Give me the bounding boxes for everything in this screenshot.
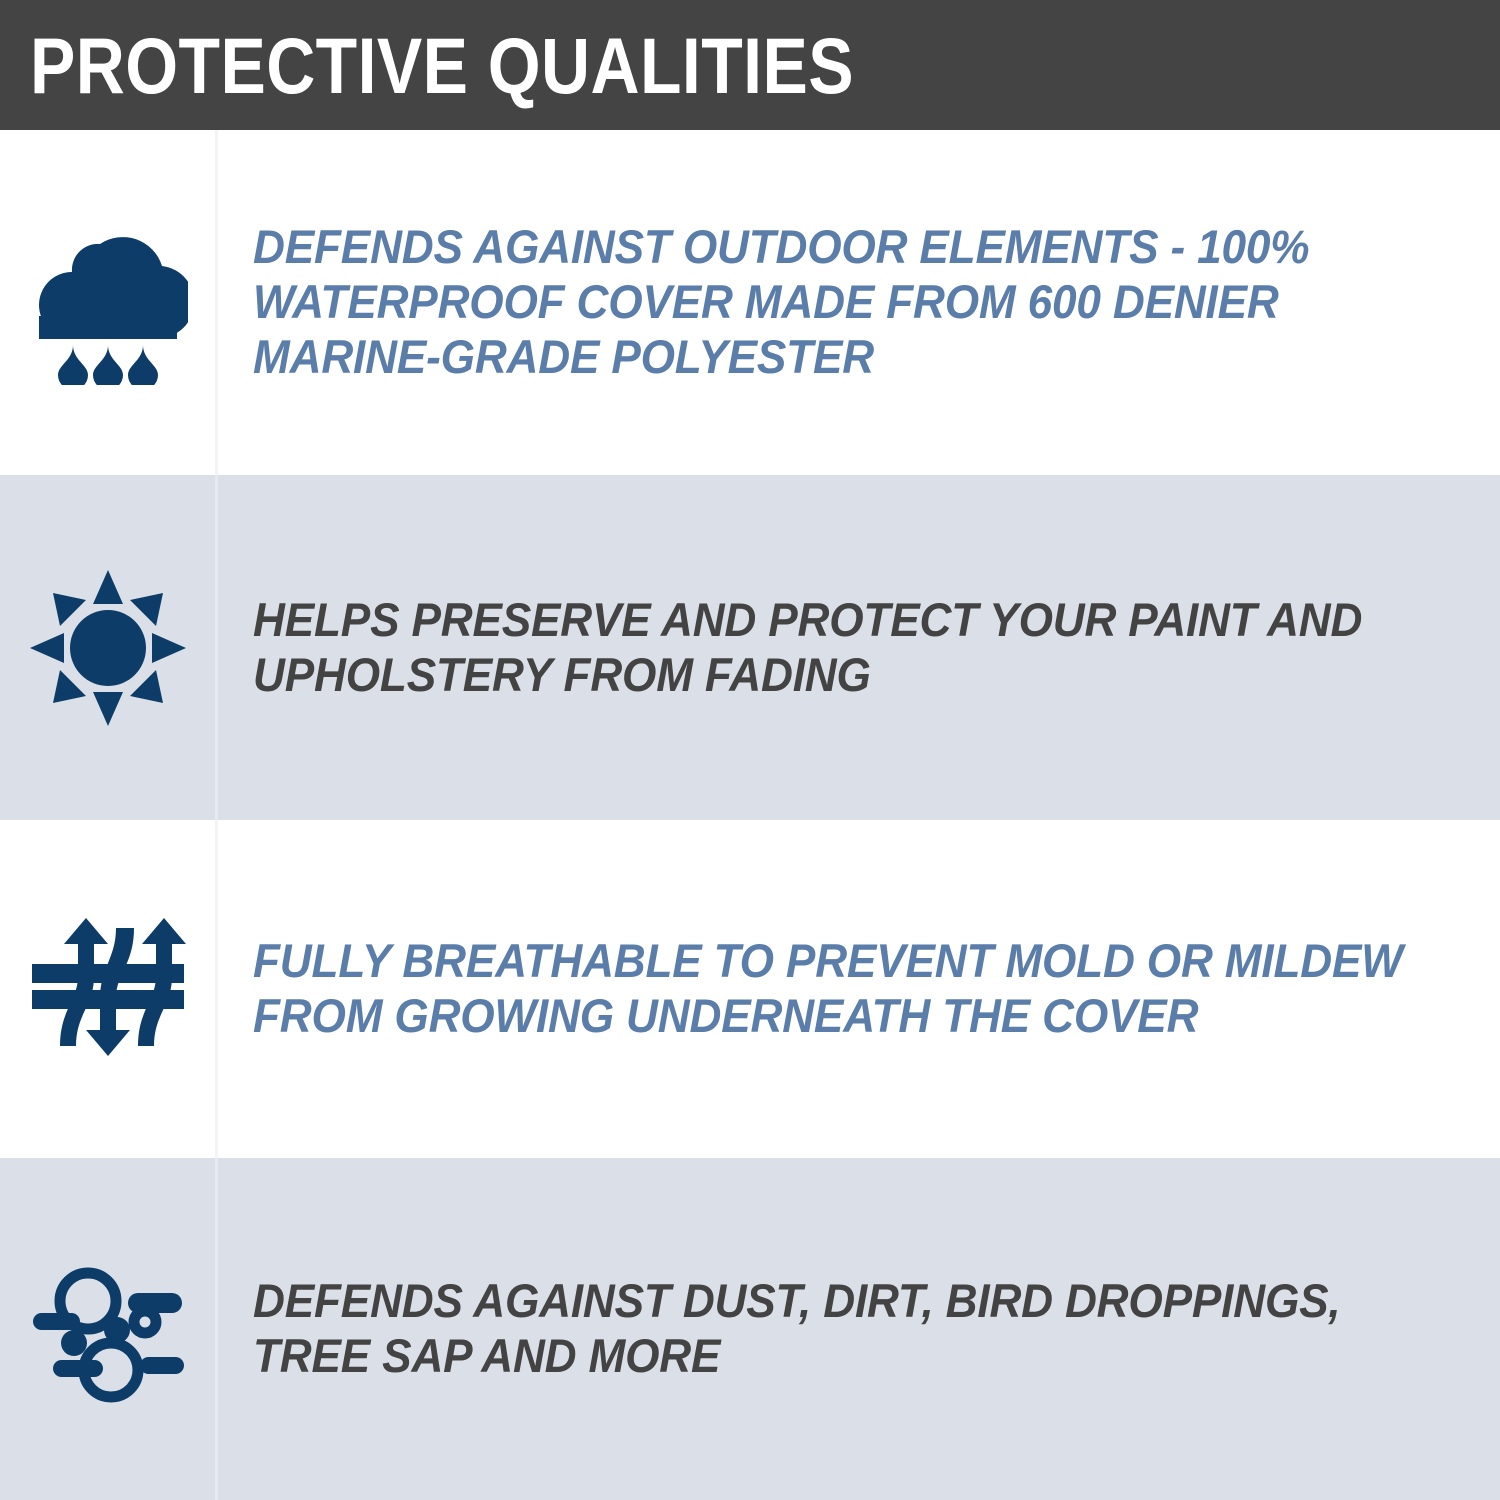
icon-cell [0, 1158, 215, 1500]
text-cell: HELPS PRESERVE AND PROTECT YOUR PAINT AN… [215, 593, 1500, 703]
feature-rows: DEFENDS AGAINST OUTDOOR ELEMENTS - 100% … [0, 130, 1500, 1500]
feature-text: FULLY BREATHABLE TO PREVENT MOLD OR MILD… [253, 934, 1406, 1044]
protective-qualities-infographic: PROTECTIVE QUALITIES DEFENDS AGAINST OUT… [0, 0, 1500, 1500]
sun-icon [28, 568, 188, 728]
icon-cell [0, 130, 215, 475]
feature-row-breathable: FULLY BREATHABLE TO PREVENT MOLD OR MILD… [0, 820, 1500, 1158]
feature-row-dust-dirt: DEFENDS AGAINST DUST, DIRT, BIRD DROPPIN… [0, 1158, 1500, 1500]
feature-text: DEFENDS AGAINST OUTDOOR ELEMENTS - 100% … [253, 220, 1406, 385]
rain-cloud-icon [28, 220, 188, 385]
text-cell: DEFENDS AGAINST OUTDOOR ELEMENTS - 100% … [215, 220, 1500, 385]
text-cell: FULLY BREATHABLE TO PREVENT MOLD OR MILD… [215, 934, 1500, 1044]
feature-row-uv-protection: HELPS PRESERVE AND PROTECT YOUR PAINT AN… [0, 475, 1500, 820]
icon-cell [0, 475, 215, 820]
header-bar: PROTECTIVE QUALITIES [0, 0, 1500, 130]
breathable-airflow-icon [28, 914, 188, 1064]
page-title: PROTECTIVE QUALITIES [30, 26, 854, 105]
feature-row-waterproof: DEFENDS AGAINST OUTDOOR ELEMENTS - 100% … [0, 130, 1500, 475]
dust-debris-icon [25, 1249, 190, 1409]
feature-text: HELPS PRESERVE AND PROTECT YOUR PAINT AN… [253, 593, 1406, 703]
icon-cell [0, 820, 215, 1158]
feature-text: DEFENDS AGAINST DUST, DIRT, BIRD DROPPIN… [253, 1274, 1406, 1384]
text-cell: DEFENDS AGAINST DUST, DIRT, BIRD DROPPIN… [215, 1274, 1500, 1384]
